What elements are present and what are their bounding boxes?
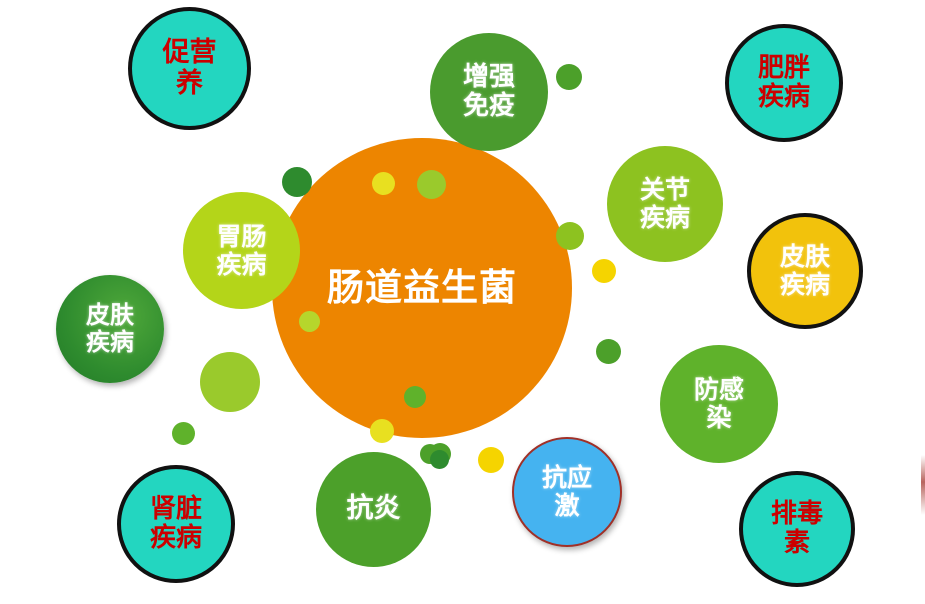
infographic-canvas: 肠道益生菌 促营 养 增强 免疫 肥胖 疾病 胃肠 疾病 关节 疾病 皮肤 疾病…	[0, 0, 925, 604]
bubble-label: 防感 染	[694, 376, 744, 432]
bubble-label: 促营 养	[163, 38, 217, 98]
decor-dot	[556, 222, 584, 250]
decor-dot	[172, 422, 195, 445]
decor-dot	[596, 339, 621, 364]
bubble-guanjie-jibing[interactable]: 关节 疾病	[607, 146, 723, 262]
bubble-shenzang-jibing[interactable]: 肾脏 疾病	[117, 465, 235, 583]
bubble-label: 胃肠 疾病	[216, 223, 266, 279]
bubble-label: 肥胖 疾病	[758, 54, 810, 112]
decor-dot	[478, 447, 504, 473]
bubble-label: 增强 免疫	[463, 63, 515, 121]
bubble-paidusu[interactable]: 排毒 素	[739, 471, 855, 587]
bubble-fangganran[interactable]: 防感 染	[660, 345, 778, 463]
bubble-pifu-jibing-green[interactable]: 皮肤 疾病	[56, 275, 164, 383]
right-edge-artifact	[921, 455, 925, 515]
bubble-zengqiang-mianyi[interactable]: 增强 免疫	[430, 33, 548, 151]
bubble-kangyingji[interactable]: 抗应 激	[512, 437, 622, 547]
bubble-label: 皮肤 疾病	[86, 302, 134, 356]
bubble-label: 抗炎	[347, 494, 401, 524]
bubble-feipang-jibing[interactable]: 肥胖 疾病	[725, 24, 843, 142]
decor-dot	[282, 167, 312, 197]
decor-dot	[592, 259, 616, 283]
bubble-pifu-jibing-yellow[interactable]: 皮肤 疾病	[747, 213, 863, 329]
decor-dot	[404, 386, 426, 408]
bubble-label: 关节 疾病	[640, 176, 690, 232]
decor-dot	[370, 419, 394, 443]
decor-dot	[417, 170, 446, 199]
bubble-kangyan[interactable]: 抗炎	[316, 452, 431, 567]
bubble-cuyingyang[interactable]: 促营 养	[128, 7, 251, 130]
bubble-label: 排毒 素	[771, 500, 823, 558]
decor-dot	[299, 311, 320, 332]
decor-dot	[430, 450, 449, 469]
decor-dot	[556, 64, 582, 90]
bubble-label: 肾脏 疾病	[150, 495, 202, 553]
bubble-label: 皮肤 疾病	[780, 243, 830, 299]
center-bubble-label: 肠道益生菌	[293, 267, 551, 308]
bubble-label: 抗应 激	[542, 464, 592, 520]
decor-dot	[200, 352, 260, 412]
bubble-weichang-jibing[interactable]: 胃肠 疾病	[183, 192, 300, 309]
decor-dot	[372, 172, 395, 195]
